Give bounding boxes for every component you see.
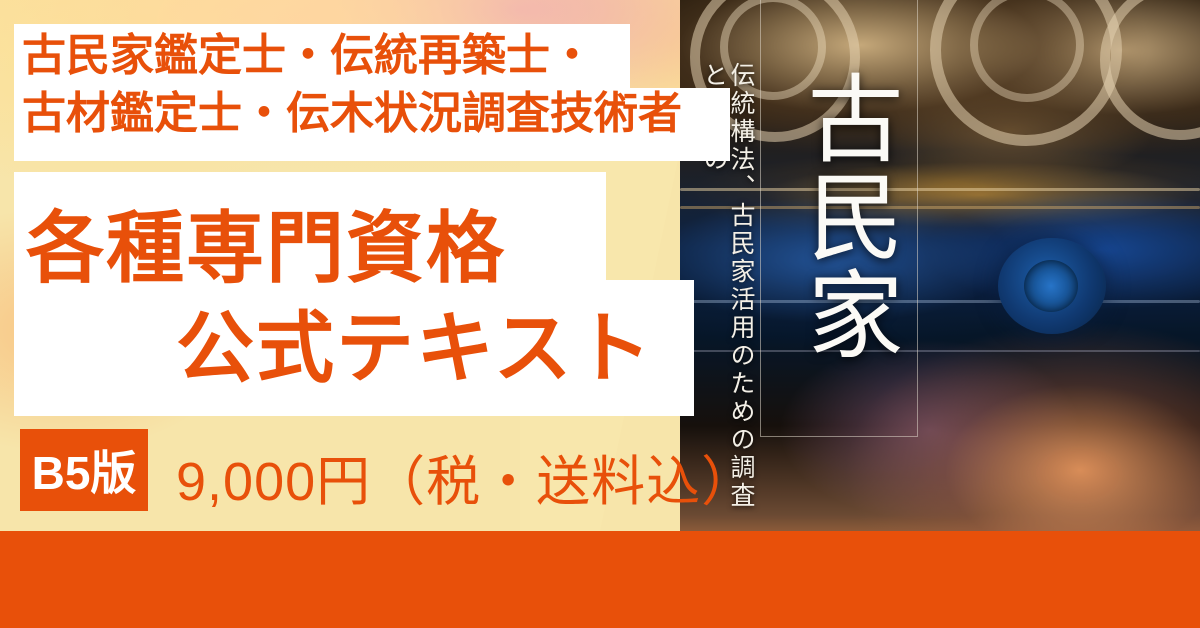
cover-title-text: 古民家 [766,6,908,426]
wave-line [680,188,1200,191]
wave-line [680,206,1200,209]
headline-line-2: 古材鑑定士・伝木状況調査技術者 [22,85,722,143]
format-badge-label: B5版 [20,429,148,511]
promo-banner: 古民家 伝統構法、古民家活用のための調査と再生の 古民家鑑定士・伝統再築士・ 古… [0,0,1200,628]
carving-swirl-icon [1100,0,1200,140]
cta-bar[interactable]: 詳細・ご購入はこちら [0,531,1200,628]
wave-line [680,350,1200,352]
wave-line [680,300,1200,303]
title-line-2: 公式テキスト [176,286,654,398]
blue-medallion-ornament [998,238,1106,334]
title-line-1: 各種専門資格 [26,186,506,298]
format-badge: B5版 [20,429,148,511]
headline-text: 古民家鑑定士・伝統再築士・ 古材鑑定士・伝木状況調査技術者 [22,27,722,143]
headline-line-1: 古民家鑑定士・伝統再築士・ [22,27,722,85]
price-text: 9,000円（税・送料込） [176,437,756,516]
book-cover-photo: 古民家 伝統構法、古民家活用のための調査と再生の [680,0,1200,560]
book-cover-image: 古民家 伝統構法、古民家活用のための調査と再生の [680,0,1200,560]
